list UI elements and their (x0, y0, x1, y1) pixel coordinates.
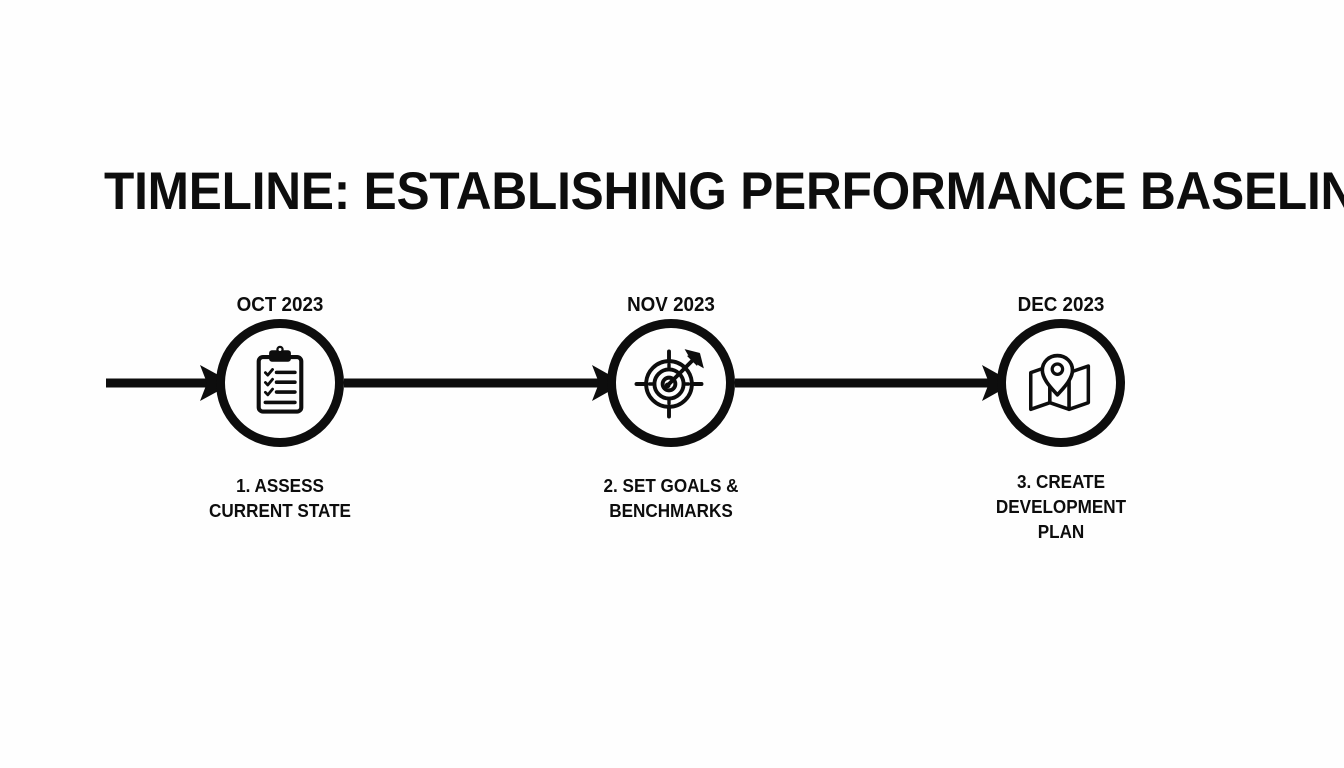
milestone-date-3: DEC 2023 (1018, 294, 1105, 316)
entry-arrow (106, 365, 233, 401)
slide-canvas: TIMELINE: ESTABLISHING PERFORMANCE BASEL… (0, 0, 1344, 768)
milestone-caption-3: 3. CREATE DEVELOPMENT PLAN (938, 470, 1185, 545)
milestone-node-1[interactable] (221, 324, 340, 443)
connector-2-to-3 (735, 365, 1014, 401)
timeline-graphic (0, 0, 1344, 768)
milestone-caption-2: 2. SET GOALS & BENCHMARKS (548, 474, 795, 524)
milestone-date-2: NOV 2023 (627, 294, 715, 316)
milestone-caption-1: 1. ASSESS CURRENT STATE (157, 474, 404, 524)
milestone-date-1: OCT 2023 (237, 294, 324, 316)
milestone-node-2[interactable] (612, 324, 731, 443)
connector-1-to-2 (344, 365, 624, 401)
milestone-node-3[interactable] (1002, 324, 1121, 443)
